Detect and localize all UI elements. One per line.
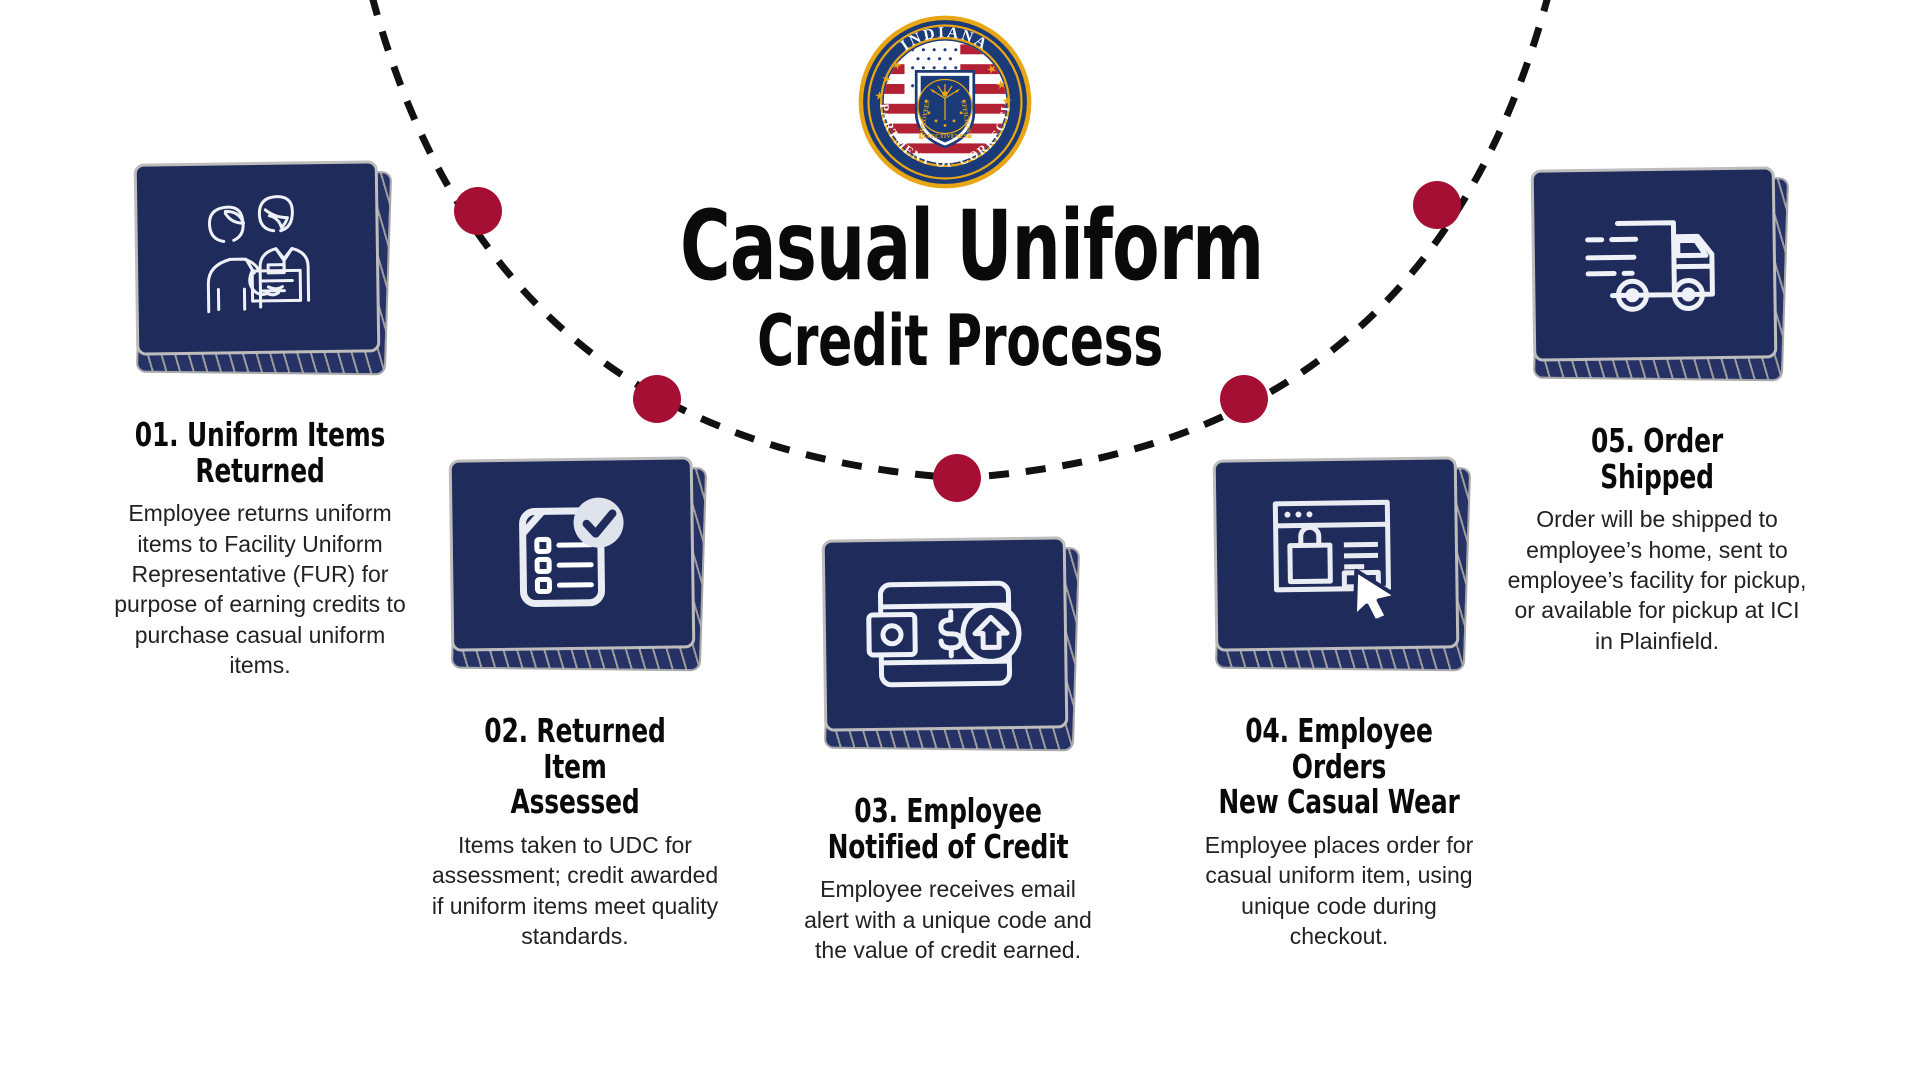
- step-03: 03. Employee Notified of Credit Employee…: [823, 538, 1073, 743]
- page-title: Casual Uniform Credit Process: [610, 200, 1310, 376]
- step-05-body: Order will be shipped to employee’s home…: [1507, 504, 1807, 656]
- two-people-clipboard-icon: [181, 192, 333, 324]
- step-05-text: 05. Order Shipped Order will be shipped …: [1507, 423, 1807, 656]
- step-01-icon-tile: [134, 160, 381, 355]
- delivery-truck-icon: [1573, 208, 1735, 320]
- connector-dot-4: [1220, 375, 1268, 423]
- step-02: 02. Returned Item Assessed Items taken t…: [450, 458, 700, 663]
- title-line-2: Credit Process: [680, 306, 1240, 376]
- step-02-heading: 02. Returned Item Assessed: [449, 713, 701, 820]
- step-01-body: Employee returns uniform items to Facili…: [110, 498, 410, 680]
- online-shopping-cursor-icon: [1263, 488, 1410, 620]
- connector-dot-3: [933, 454, 981, 502]
- seal-shield-bottom-text: EFFECTIVENESS: [919, 133, 971, 140]
- step-04-icon-tile: [1213, 456, 1460, 651]
- step-02-text: 02. Returned Item Assessed Items taken t…: [425, 713, 725, 951]
- step-05-icon-tile: [1531, 166, 1778, 361]
- step-02-body: Items taken to UDC for assessment; credi…: [425, 830, 725, 951]
- step-05-card: [1532, 168, 1782, 373]
- step-03-heading: 03. Employee Notified of Credit: [822, 793, 1074, 864]
- step-03-icon-tile: [822, 536, 1069, 731]
- connector-dot-2: [633, 375, 681, 423]
- step-03-text: 03. Employee Notified of Credit Employee…: [798, 793, 1098, 965]
- step-02-card: [450, 458, 700, 663]
- step-02-icon-tile: [449, 456, 696, 651]
- step-03-card: [823, 538, 1073, 743]
- step-04-text: 04. Employee Orders New Casual Wear Empl…: [1189, 713, 1489, 951]
- checklist-approved-icon: [506, 488, 638, 620]
- connector-dot-1: [454, 187, 502, 235]
- infographic-page: EMPLOYEES EFFICIENCY EFFECTIVENESS INDIA…: [0, 0, 1920, 1080]
- step-04: 04. Employee Orders New Casual Wear Empl…: [1214, 458, 1464, 663]
- step-03-body: Employee receives email alert with a uni…: [798, 874, 1098, 965]
- step-05: 05. Order Shipped Order will be shipped …: [1532, 168, 1782, 373]
- credit-card-dollar-icon: [864, 573, 1026, 695]
- step-05-heading: 05. Order Shipped: [1531, 423, 1783, 494]
- step-04-body: Employee places order for casual uniform…: [1189, 830, 1489, 951]
- connector-dot-5: [1413, 181, 1461, 229]
- step-01: 01. Uniform Items Returned Employee retu…: [135, 162, 385, 367]
- step-01-card: [135, 162, 385, 367]
- title-line-1: Casual Uniform: [680, 200, 1240, 292]
- step-01-heading: 01. Uniform Items Returned: [134, 417, 386, 488]
- indiana-department-of-correction-seal: EMPLOYEES EFFICIENCY EFFECTIVENESS INDIA…: [855, 12, 1035, 192]
- step-04-heading: 04. Employee Orders New Casual Wear: [1213, 713, 1465, 820]
- step-04-card: [1214, 458, 1464, 663]
- step-01-text: 01. Uniform Items Returned Employee retu…: [110, 417, 410, 680]
